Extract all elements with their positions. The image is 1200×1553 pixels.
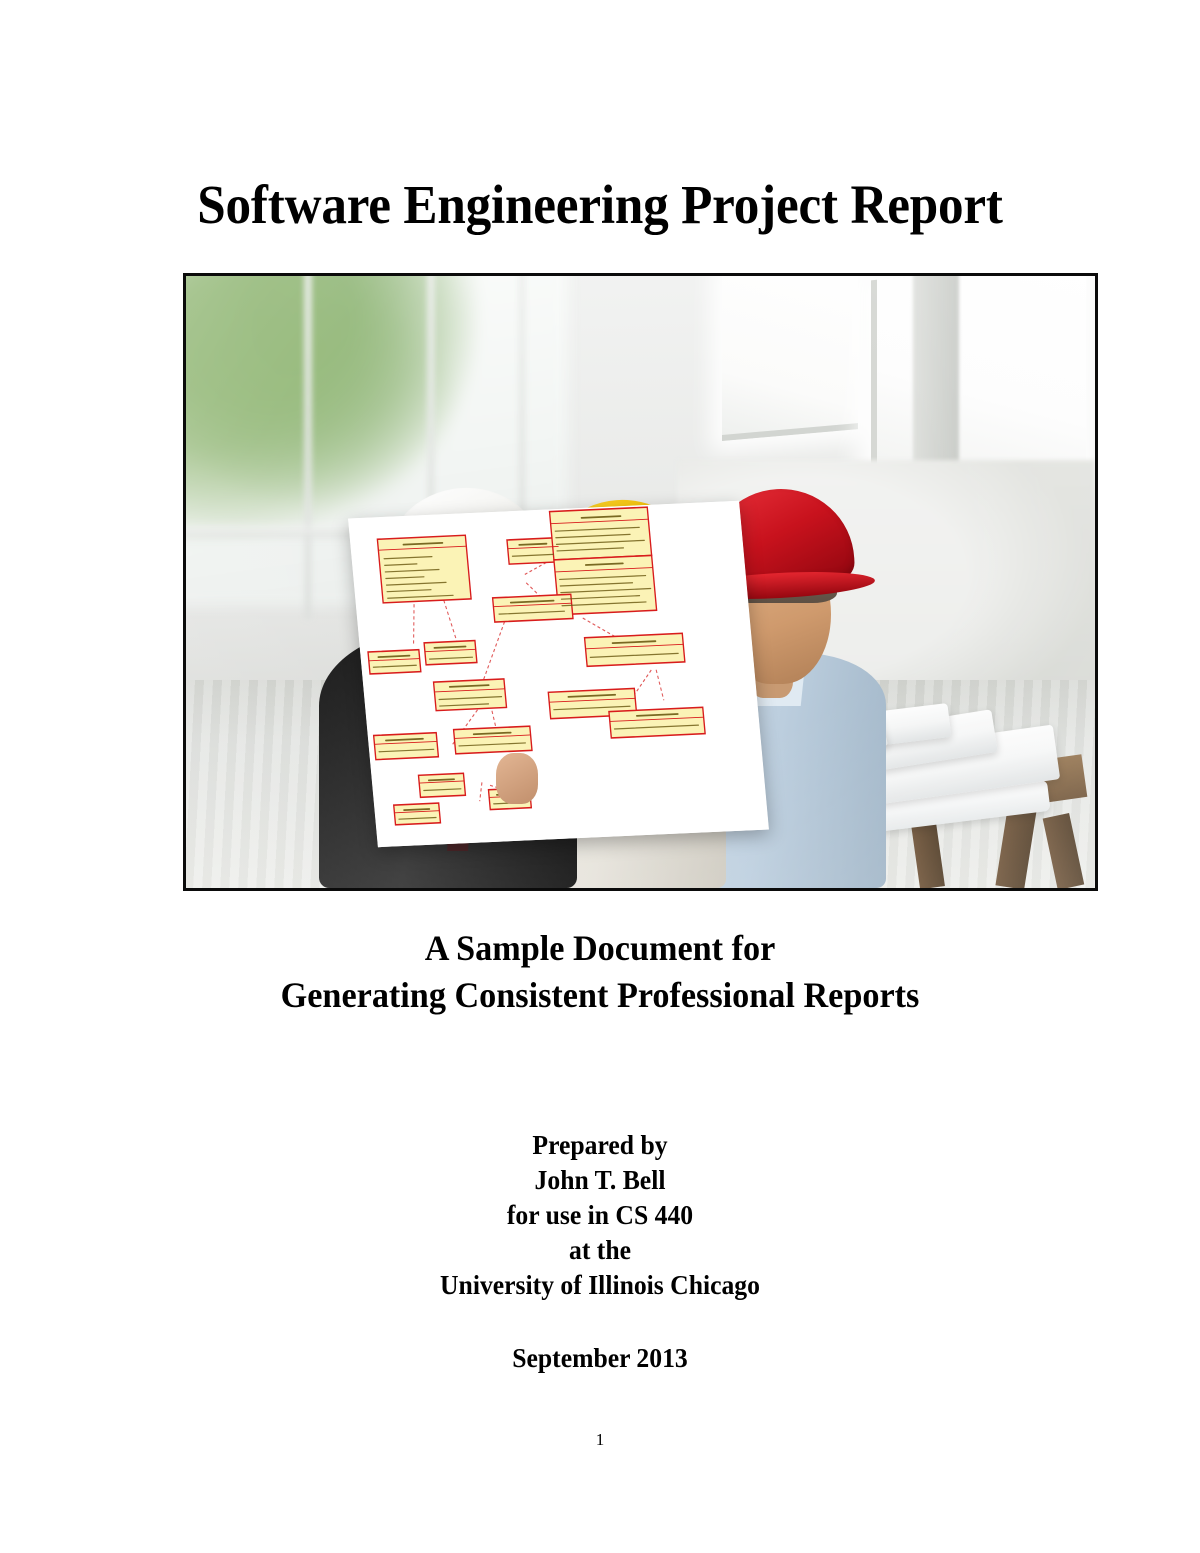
institution-name: University of Illinois Chicago: [30, 1268, 1170, 1303]
prepared-by-label: Prepared by: [30, 1128, 1170, 1163]
page-number: 1: [0, 1430, 1200, 1450]
subtitle-line-2: Generating Consistent Professional Repor…: [30, 972, 1170, 1019]
prepared-by-block: Prepared by John T. Bell for use in CS 4…: [30, 1128, 1170, 1303]
document-page: Software Engineering Project Report: [0, 0, 1200, 1553]
document-date: September 2013: [30, 1341, 1170, 1376]
uml-class-diagram-poster: [348, 500, 769, 847]
uml-class-diagram: [348, 500, 769, 847]
cover-photo: [186, 276, 1095, 888]
document-subtitle: A Sample Document for Generating Consist…: [30, 925, 1170, 1019]
subtitle-line-1: A Sample Document for: [30, 925, 1170, 972]
cover-image: [183, 273, 1098, 891]
page-title: Software Engineering Project Report: [42, 173, 1158, 237]
window-mullion: [304, 276, 312, 619]
hand-holding-poster: [496, 753, 538, 804]
at-the-label: at the: [30, 1233, 1170, 1268]
author-name: John T. Bell: [30, 1163, 1170, 1198]
course-line: for use in CS 440: [30, 1198, 1170, 1233]
background-window: [722, 276, 858, 441]
